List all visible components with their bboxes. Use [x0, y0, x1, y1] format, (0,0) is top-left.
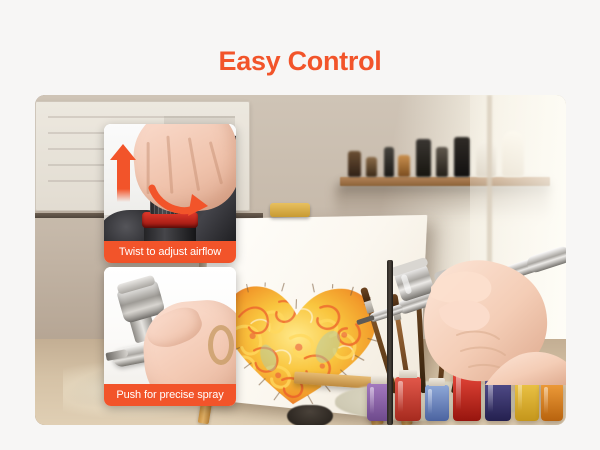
inset-card-twist-airflow: Twist to adjust airflow [104, 124, 236, 263]
inset-caption-precise-spray: Push for precise spray [104, 384, 236, 406]
inset-photo-twist-knob [104, 124, 236, 241]
page-title: Easy Control [0, 46, 600, 77]
hand-holding-airbrush [335, 205, 566, 385]
canvas-clip [270, 203, 310, 217]
water-cup [287, 405, 333, 425]
up-arrow-icon [117, 158, 130, 202]
inset-card-precise-spray: Push for precise spray [104, 267, 236, 406]
inset-caption-twist-airflow: Twist to adjust airflow [104, 241, 236, 263]
airbrush-finger-rest [208, 325, 234, 365]
inset-photo-airbrush-hand [104, 267, 236, 384]
airbrush-stand-rod [387, 260, 393, 425]
twist-arrow-icon [148, 178, 210, 222]
